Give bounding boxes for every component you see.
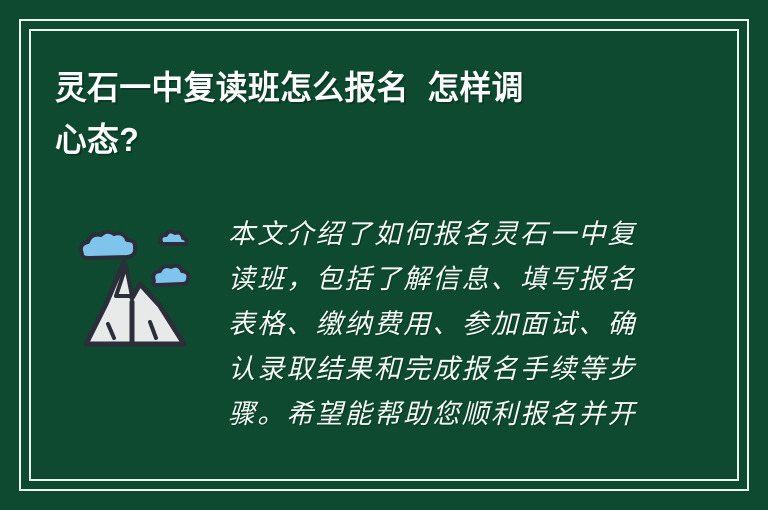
poster-canvas: 灵石一中复读班怎么报名 怎样调 心态? 本文介绍了如何报名灵石一中复 xyxy=(0,0,768,510)
title-line-2: 心态? xyxy=(55,114,669,166)
body-line-1: 本文介绍了如何报名灵石一中复 xyxy=(228,212,660,257)
cloud-small-top-right xyxy=(160,231,186,244)
cloud-large-left xyxy=(81,232,135,258)
cloud-medium-right xyxy=(153,266,188,285)
body-line-5: 骤。希望能帮助您顺利报名并开 xyxy=(228,392,660,437)
page-title: 灵石一中复读班怎么报名 怎样调 心态? xyxy=(55,62,695,166)
snow-mountain-icon xyxy=(66,226,206,361)
title-line-1: 灵石一中复读班怎么报名 怎样调 xyxy=(55,62,669,114)
body-line-2: 读班，包括了解信息、填写报名 xyxy=(228,257,660,302)
body-line-4: 认录取结果和完成报名手续等步 xyxy=(228,347,660,392)
body-text: 本文介绍了如何报名灵石一中复 读班，包括了解信息、填写报名 表格、缴纳费用、参加… xyxy=(228,212,660,437)
body-line-3: 表格、缴纳费用、参加面试、确 xyxy=(228,302,660,347)
